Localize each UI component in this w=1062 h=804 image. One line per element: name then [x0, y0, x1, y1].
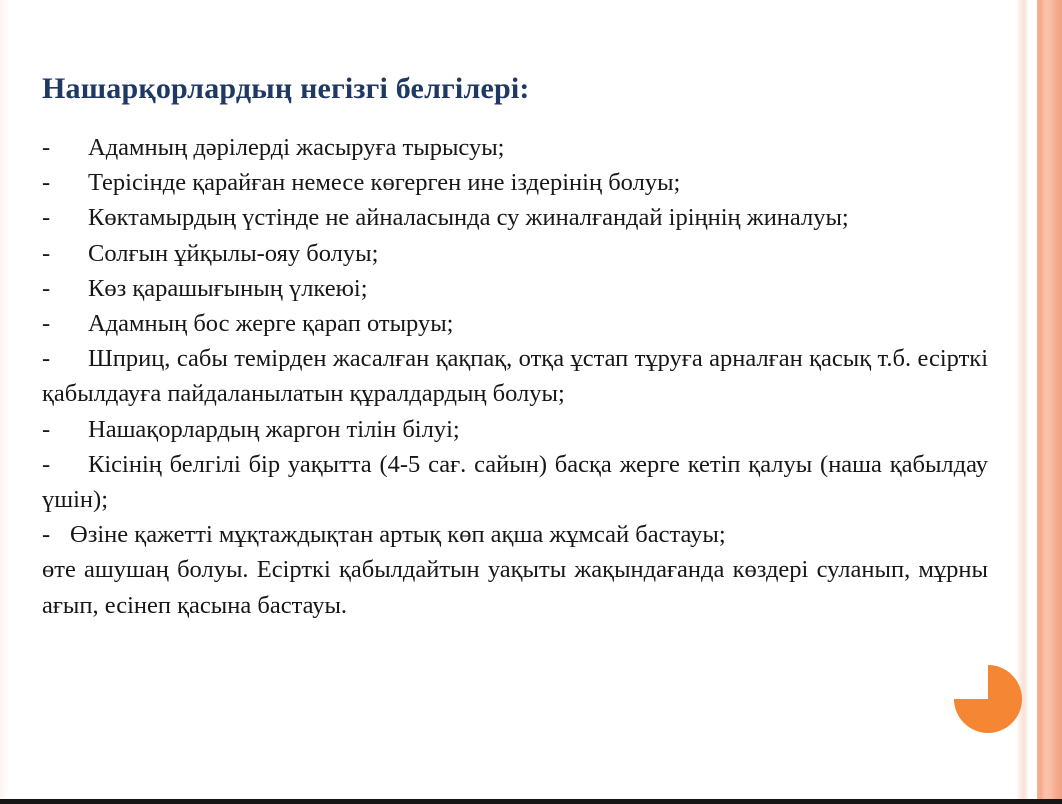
list-marker: -	[42, 306, 56, 341]
list-marker: -	[42, 236, 56, 271]
left-edge-tint	[0, 0, 10, 804]
page-title: Нашарқорлардың негізгі белгілері:	[42, 72, 530, 105]
list-item-text: Терісінде қарайған немесе көгерген ине і…	[88, 169, 680, 196]
list-item: -Өзіне қажетті мұқтаждықтан артық көп ақ…	[42, 517, 988, 552]
list-item: -Адамның бос жерге қарап отыруы;	[42, 306, 988, 341]
right-bar-salmon	[1037, 0, 1062, 804]
list-item-text: Адамның дәрілерді жасыруға тырысуы;	[88, 134, 504, 161]
list-item-text: Шприц, сабы темірден жасалған қақпақ, от…	[42, 345, 988, 407]
list-item-text: Нашақорлардың жаргон тілін білуі;	[88, 416, 460, 443]
symptom-list: -Адамның дәрілерді жасыруға тырысуы; -Те…	[42, 130, 988, 623]
list-item-text: Адамның бос жерге қарап отыруы;	[88, 310, 453, 337]
list-item: -Көктамырдың үстінде не айналасында су ж…	[42, 200, 988, 235]
list-item: -Терісінде қарайған немесе көгерген ине …	[42, 165, 988, 200]
list-item: -Шприц, сабы темірден жасалған қақпақ, о…	[42, 341, 988, 411]
list-item: өте ашушаң болуы. Есірткі қабылдайтын уа…	[42, 552, 988, 622]
list-item-text: Өзіне қажетті мұқтаждықтан артық көп ақш…	[70, 521, 726, 548]
list-item-text: Солғын ұйқылы-ояу болуы;	[88, 240, 378, 267]
list-item: -Көз қарашығының үлкеюі;	[42, 271, 988, 306]
list-marker: -	[42, 200, 56, 235]
list-marker: -	[42, 130, 56, 165]
list-item: -Кісінің белгілі бір уақытта (4-5 сағ. с…	[42, 447, 988, 517]
list-item: -Нашақорлардың жаргон тілін білуі;	[42, 412, 988, 447]
right-decorative-bars	[1016, 0, 1062, 804]
list-item-text: Кісінің белгілі бір уақытта (4-5 сағ. са…	[42, 451, 988, 513]
bottom-rule	[0, 799, 1062, 804]
list-item: -Адамның дәрілерді жасыруға тырысуы;	[42, 130, 988, 165]
list-item-text: Көз қарашығының үлкеюі;	[88, 275, 368, 302]
list-item: -Солғын ұйқылы-ояу болуы;	[42, 236, 988, 271]
list-marker: -	[42, 271, 56, 306]
list-marker: -	[42, 165, 56, 200]
list-item-text: Көктамырдың үстінде не айналасында су жи…	[88, 204, 849, 231]
list-item-text: өте ашушаң болуы. Есірткі қабылдайтын уа…	[42, 556, 988, 618]
right-bar-gap	[1029, 0, 1037, 804]
list-marker: -	[42, 517, 56, 552]
slide-canvas: Нашарқорлардың негізгі белгілері: -Адамн…	[0, 0, 1062, 804]
slide-content: Нашарқорлардың негізгі белгілері: -Адамн…	[42, 0, 988, 804]
list-marker: -	[42, 447, 56, 482]
list-marker: -	[42, 341, 56, 376]
list-marker: -	[42, 412, 56, 447]
